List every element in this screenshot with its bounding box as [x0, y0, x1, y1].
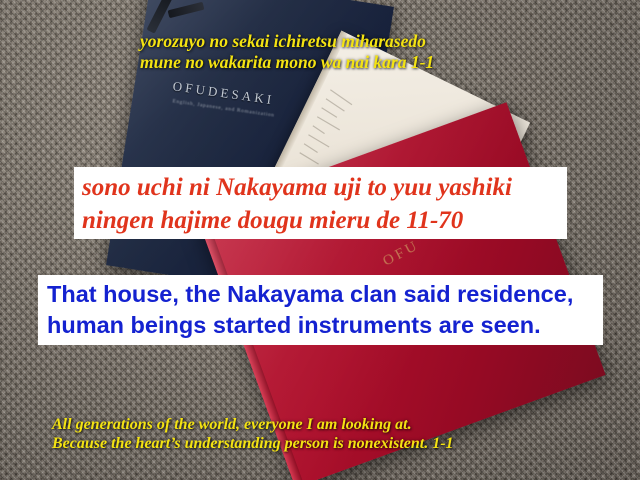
slide-canvas: OFUDESAKI English, Japanese, and Romaniz… [0, 0, 640, 480]
translation-box: That house, the Nakayama clan said resid… [38, 275, 603, 345]
caption-top-line-2: mune no wakarita mono wa nai kara 1-1 [140, 52, 434, 73]
caption-top: yorozuyo no sekai ichiretsu miharasedo m… [140, 31, 434, 72]
verse-line-2: ningen hajime dougu mieru de 11-70 [82, 205, 567, 238]
caption-bottom-line-2: Because the heart’s understanding person… [52, 435, 454, 454]
verse-line-1: sono uchi ni Nakayama uji to yuu yashiki [82, 172, 567, 205]
caption-bottom-line-1: All generations of the world, everyone I… [52, 416, 454, 435]
translation-line-1: That house, the Nakayama clan said resid… [47, 279, 603, 310]
verse-romaji-box: sono uchi ni Nakayama uji to yuu yashiki… [74, 167, 567, 239]
caption-top-line-1: yorozuyo no sekai ichiretsu miharasedo [140, 31, 434, 52]
translation-line-2: human beings started instruments are see… [47, 310, 603, 341]
caption-bottom: All generations of the world, everyone I… [52, 416, 454, 454]
